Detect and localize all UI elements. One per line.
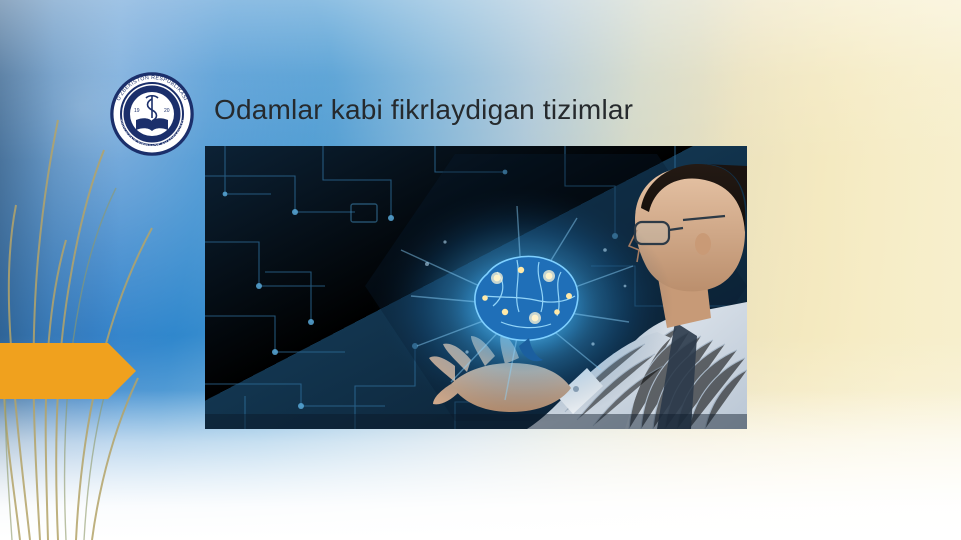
slide-image xyxy=(205,146,747,429)
slide-title: Odamlar kabi fikrlaydigan tizimlar xyxy=(214,92,854,127)
svg-text:19: 19 xyxy=(134,108,140,114)
svg-text:20: 20 xyxy=(164,108,170,114)
ai-brain-in-hand-illustration xyxy=(205,146,747,429)
presentation-slide: O'ZBEKISTON RESPUBLIKASI TOSHKENT TIBBIY… xyxy=(0,0,961,540)
university-emblem-logo: O'ZBEKISTON RESPUBLIKASI TOSHKENT TIBBIY… xyxy=(110,72,194,156)
orange-arrow-banner-icon xyxy=(0,343,136,399)
